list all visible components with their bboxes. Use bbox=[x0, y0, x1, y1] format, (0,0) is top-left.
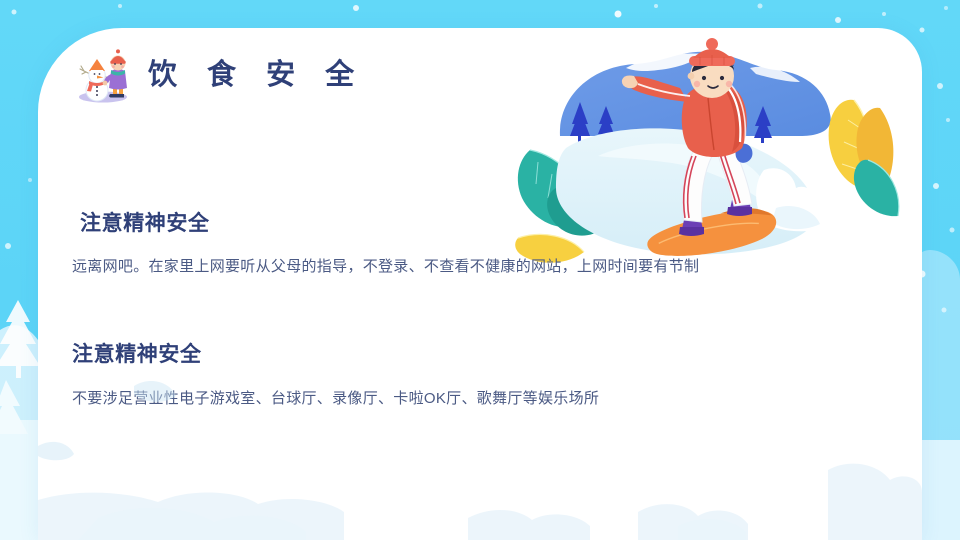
card-bottom-clouds bbox=[38, 350, 922, 540]
section-1: 注意精神安全 远离网吧。在家里上网要听从父母的指导，不登录、不查看不健康的网站，… bbox=[72, 210, 872, 279]
card-header: 饮 食 安 全 bbox=[72, 44, 365, 106]
page-title: 饮 食 安 全 bbox=[148, 61, 365, 90]
snowman-with-child-icon bbox=[72, 44, 134, 106]
section-1-body: 远离网吧。在家里上网要听从父母的指导，不登录、不查看不健康的网站，上网时间要有节… bbox=[72, 255, 872, 279]
content-card: 饮 食 安 全 bbox=[38, 28, 922, 540]
section-1-heading: 注意精神安全 bbox=[72, 210, 872, 237]
